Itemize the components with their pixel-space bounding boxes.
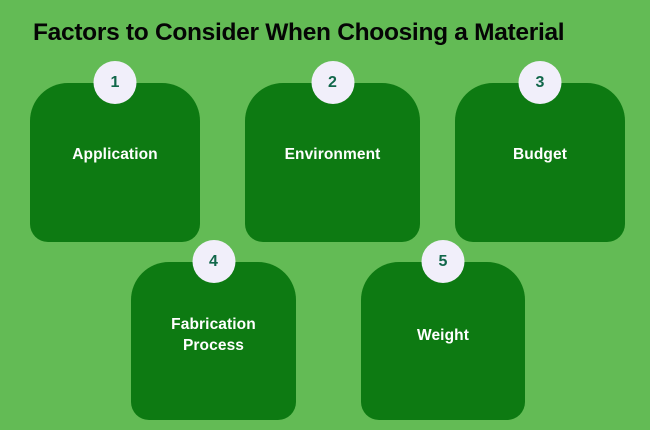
factor-card-body-1[interactable]: Application xyxy=(30,83,200,242)
factor-number-badge-4: 4 xyxy=(192,240,235,283)
factor-number-2: 2 xyxy=(328,75,337,91)
factor-card-label-2: Environment xyxy=(245,144,420,165)
factor-number-badge-2: 2 xyxy=(311,61,354,104)
factor-number-3: 3 xyxy=(535,75,544,91)
infographic-canvas: Factors to Consider When Choosing a Mate… xyxy=(0,0,650,430)
factor-card-label-4: Fabrication Process xyxy=(131,314,296,356)
factor-number-badge-3: 3 xyxy=(519,61,562,104)
factor-card-body-4[interactable]: Fabrication Process xyxy=(131,262,296,420)
factor-card-label-3: Budget xyxy=(455,144,625,165)
factor-number-1: 1 xyxy=(110,75,119,91)
factor-number-4: 4 xyxy=(209,254,218,270)
page-title: Factors to Consider When Choosing a Mate… xyxy=(33,18,633,48)
factor-card-body-5[interactable]: Weight xyxy=(361,262,525,420)
factor-number-5: 5 xyxy=(438,254,447,270)
factor-card-body-2[interactable]: Environment xyxy=(245,83,420,242)
factor-card-label-1: Application xyxy=(30,144,200,165)
factor-card-body-3[interactable]: Budget xyxy=(455,83,625,242)
factor-number-badge-1: 1 xyxy=(94,61,137,104)
factor-number-badge-5: 5 xyxy=(422,240,465,283)
factor-card-label-5: Weight xyxy=(361,325,525,346)
